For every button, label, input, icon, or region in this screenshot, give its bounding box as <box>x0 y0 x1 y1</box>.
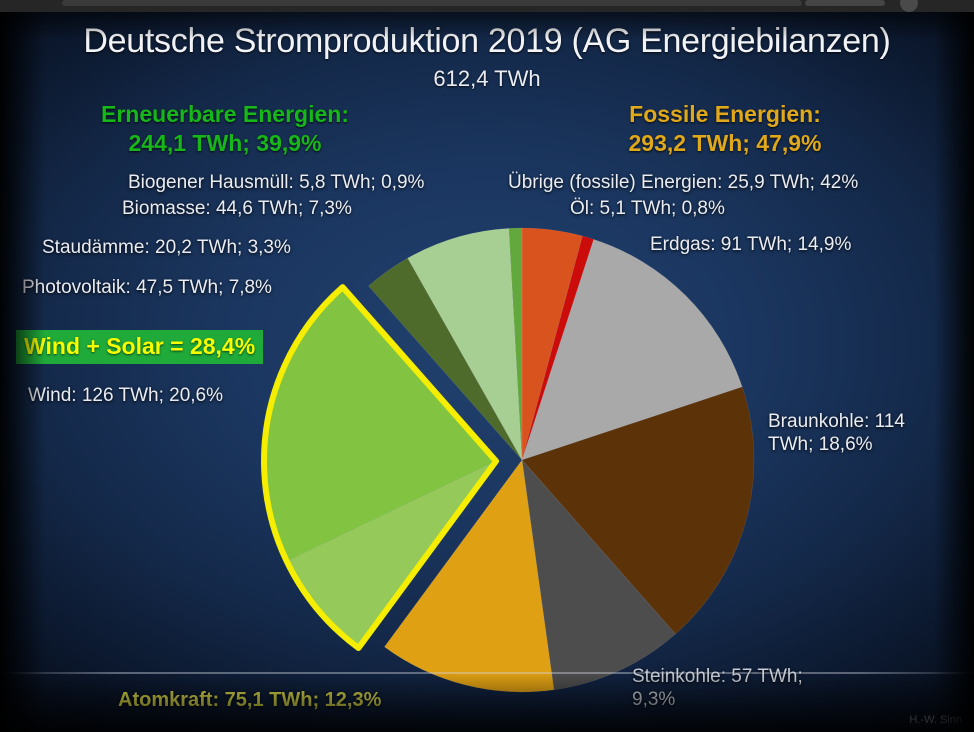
horizontal-rule <box>0 672 974 674</box>
renewable-heading-line1: Erneuerbare Energien: <box>60 100 390 129</box>
slide-canvas: Deutsche Stromproduktion 2019 (AG Energi… <box>0 12 974 732</box>
label-erdgas: Erdgas: 91 TWh; 14,9% <box>650 234 851 256</box>
screenshot-root: Deutsche Stromproduktion 2019 (AG Energi… <box>0 0 974 732</box>
renewable-group-heading: Erneuerbare Energien: 244,1 TWh; 39,9% <box>60 100 390 158</box>
label-oel: Öl: 5,1 TWh; 0,8% <box>570 198 725 220</box>
label-steinkohle: Steinkohle: 57 TWh; 9,3% <box>632 665 812 711</box>
renewable-heading-line2: 244,1 TWh; 39,9% <box>60 129 390 158</box>
fossil-heading-line1: Fossile Energien: <box>560 100 890 129</box>
label-wind: Wind: 126 TWh; 20,6% <box>28 385 223 407</box>
profile-avatar[interactable] <box>900 0 918 12</box>
fossil-heading-line2: 293,2 TWh; 47,9% <box>560 129 890 158</box>
author-credit: H.-W. Sinn <box>909 714 962 726</box>
address-bar[interactable] <box>62 0 802 6</box>
label-atomkraft: Atomkraft: 75,1 TWh; 12,3% <box>118 689 381 712</box>
label-staudaemme: Staudämme: 20,2 TWh; 3,3% <box>42 237 291 259</box>
page-subtitle: 612,4 TWh <box>0 66 974 92</box>
fossil-group-heading: Fossile Energien: 293,2 TWh; 47,9% <box>560 100 890 158</box>
label-braunkohle: Braunkohle: 114 TWh; 18,6% <box>768 410 918 456</box>
label-biomasse: Biomasse: 44,6 TWh; 7,3% <box>122 198 352 220</box>
label-photovoltaik: Photovoltaik: 47,5 TWh; 7,8% <box>22 277 272 299</box>
wind-solar-highlight-badge: Wind + Solar = 28,4% <box>16 330 263 364</box>
label-biogener-hausmuell: Biogener Hausmüll: 5,8 TWh; 0,9% <box>128 172 424 194</box>
page-title: Deutsche Stromproduktion 2019 (AG Energi… <box>0 22 974 61</box>
toolbar-button[interactable] <box>805 0 885 6</box>
label-uebrige-fossile: Übrige (fossile) Energien: 25,9 TWh; 42% <box>508 172 858 194</box>
